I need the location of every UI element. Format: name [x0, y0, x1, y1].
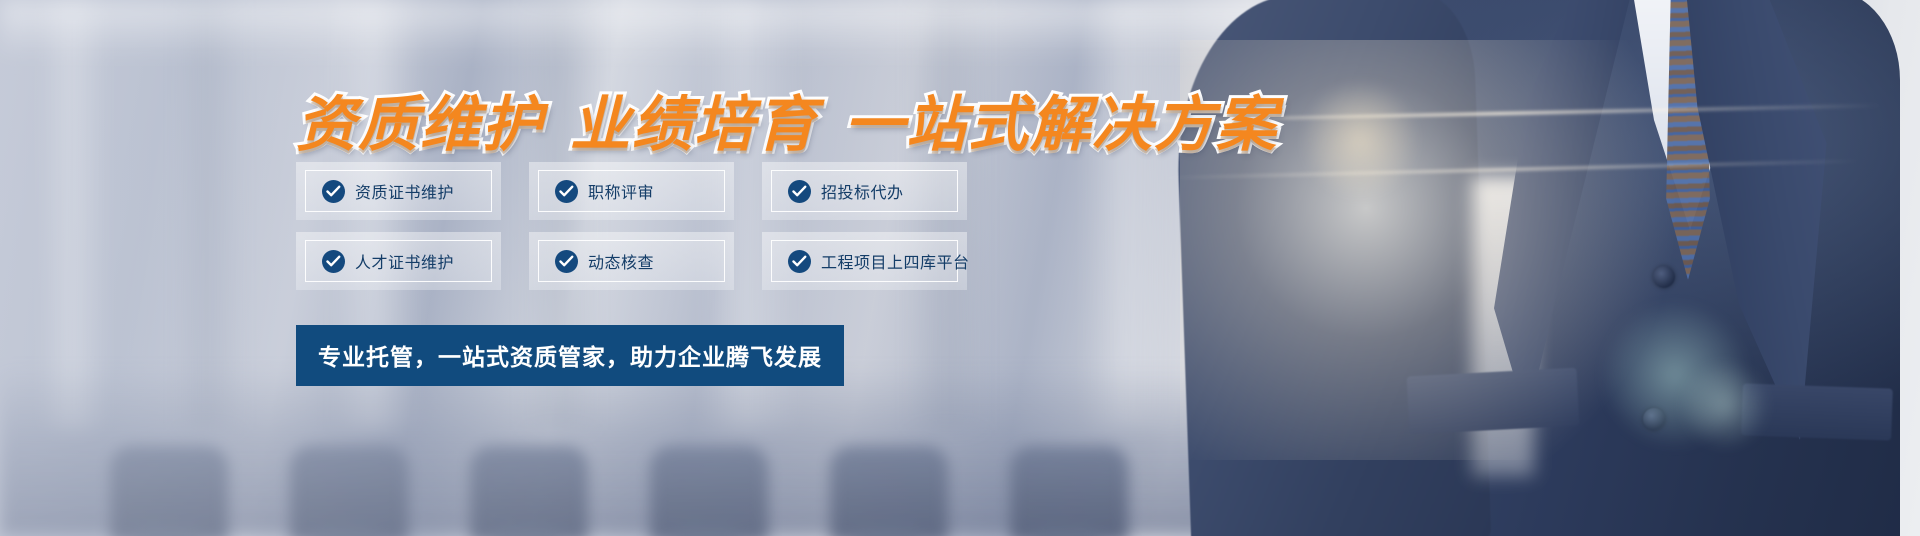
feature-label: 职称评审: [588, 179, 654, 203]
feature-box-grid: 资质证书维护 职称评审: [296, 162, 968, 302]
promo-banner: 资质维护业绩培育一站式解决方案 资质证书维护: [0, 0, 1920, 536]
headline-part-3: 一站式解决方案: [844, 91, 1278, 158]
feature-box-qualification-certificate[interactable]: 资质证书维护: [296, 162, 501, 220]
check-circle-icon: [788, 180, 811, 203]
tagline-text: 专业托管，一站式资质管家，助力企业腾飞发展: [318, 344, 822, 370]
tagline-bar: 专业托管，一站式资质管家，助力企业腾飞发展: [296, 325, 844, 386]
check-circle-icon: [322, 180, 345, 203]
feature-label: 资质证书维护: [355, 179, 454, 203]
check-circle-icon: [322, 250, 345, 273]
feature-row-2: 人才证书维护 动态核查: [296, 232, 968, 290]
feature-label: 招投标代办: [821, 179, 904, 203]
feature-box-four-database-platform[interactable]: 工程项目上四库平台: [762, 232, 967, 290]
check-circle-icon: [555, 250, 578, 273]
feature-row-1: 资质证书维护 职称评审: [296, 162, 968, 220]
headline-part-2: 业绩培育: [570, 91, 818, 158]
headline-part-1: 资质维护: [296, 91, 544, 158]
feature-box-title-review[interactable]: 职称评审: [529, 162, 734, 220]
feature-label: 人才证书维护: [355, 249, 454, 273]
feature-label: 动态核查: [588, 249, 654, 273]
feature-box-bidding-agency[interactable]: 招投标代办: [762, 162, 967, 220]
check-circle-icon: [555, 180, 578, 203]
feature-box-talent-certificate[interactable]: 人才证书维护: [296, 232, 501, 290]
feature-box-dynamic-verification[interactable]: 动态核查: [529, 232, 734, 290]
banner-headline: 资质维护业绩培育一站式解决方案: [296, 76, 1278, 163]
check-circle-icon: [788, 250, 811, 273]
feature-label: 工程项目上四库平台: [821, 249, 970, 273]
